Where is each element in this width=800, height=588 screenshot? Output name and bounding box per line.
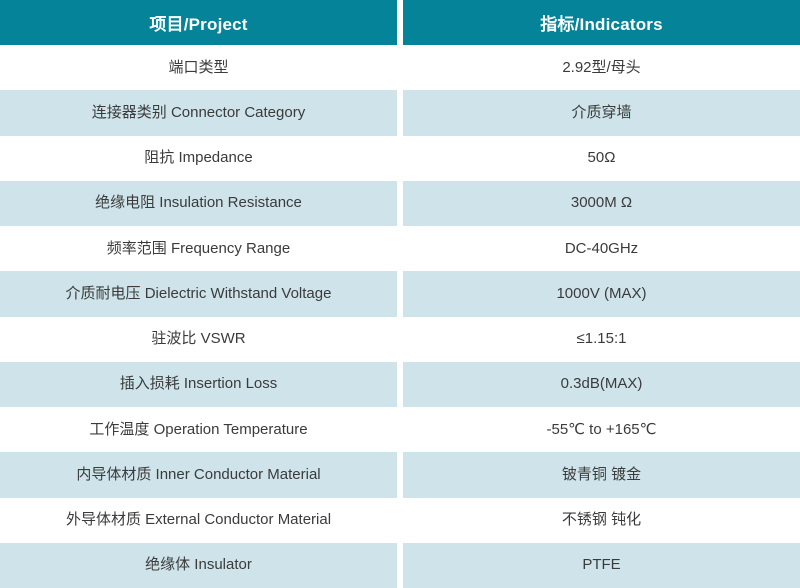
cell-project: 外导体材质 External Conductor Material xyxy=(0,498,397,543)
table-row: 外导体材质 External Conductor Material 不锈钢 钝化 xyxy=(0,498,800,543)
cell-project: 驻波比 VSWR xyxy=(0,317,397,362)
table-body: 端口类型 2.92型/母头 连接器类别 Connector Category 介… xyxy=(0,45,800,588)
table-row: 绝缘体 Insulator PTFE xyxy=(0,543,800,588)
table-row: 端口类型 2.92型/母头 xyxy=(0,45,800,90)
cell-indicator: 不锈钢 钝化 xyxy=(403,498,800,543)
cell-indicator: 3000M Ω xyxy=(403,181,800,226)
table-row: 绝缘电阻 Insulation Resistance 3000M Ω xyxy=(0,181,800,226)
cell-project: 阻抗 Impedance xyxy=(0,136,397,181)
cell-indicator: 铍青铜 镀金 xyxy=(403,452,800,497)
column-header-indicators: 指标/Indicators xyxy=(403,0,800,45)
table-row: 插入损耗 Insertion Loss 0.3dB(MAX) xyxy=(0,362,800,407)
table-row: 频率范围 Frequency Range DC-40GHz xyxy=(0,226,800,271)
cell-project: 端口类型 xyxy=(0,45,397,90)
cell-project: 工作温度 Operation Temperature xyxy=(0,407,397,452)
specification-table: 项目/Project 指标/Indicators 端口类型 2.92型/母头 连… xyxy=(0,0,800,588)
table-row: 驻波比 VSWR ≤1.15:1 xyxy=(0,317,800,362)
table-row: 阻抗 Impedance 50Ω xyxy=(0,136,800,181)
cell-indicator: 0.3dB(MAX) xyxy=(403,362,800,407)
cell-indicator: -55℃ to +165℃ xyxy=(403,407,800,452)
cell-project: 介质耐电压 Dielectric Withstand Voltage xyxy=(0,271,397,316)
cell-indicator: 50Ω xyxy=(403,136,800,181)
cell-indicator: 1000V (MAX) xyxy=(403,271,800,316)
cell-project: 频率范围 Frequency Range xyxy=(0,226,397,271)
table-header-row: 项目/Project 指标/Indicators xyxy=(0,0,800,45)
cell-project: 插入损耗 Insertion Loss xyxy=(0,362,397,407)
cell-indicator: 2.92型/母头 xyxy=(403,45,800,90)
cell-project: 绝缘电阻 Insulation Resistance xyxy=(0,181,397,226)
column-header-project: 项目/Project xyxy=(0,0,397,45)
cell-indicator: PTFE xyxy=(403,543,800,588)
cell-indicator: DC-40GHz xyxy=(403,226,800,271)
cell-project: 绝缘体 Insulator xyxy=(0,543,397,588)
cell-project: 内导体材质 Inner Conductor Material xyxy=(0,452,397,497)
cell-project: 连接器类别 Connector Category xyxy=(0,90,397,135)
cell-indicator: ≤1.15:1 xyxy=(403,317,800,362)
table-row: 内导体材质 Inner Conductor Material 铍青铜 镀金 xyxy=(0,452,800,497)
table-row: 连接器类别 Connector Category 介质穿墙 xyxy=(0,90,800,135)
cell-indicator: 介质穿墙 xyxy=(403,90,800,135)
table-row: 介质耐电压 Dielectric Withstand Voltage 1000V… xyxy=(0,271,800,316)
table-row: 工作温度 Operation Temperature -55℃ to +165℃ xyxy=(0,407,800,452)
